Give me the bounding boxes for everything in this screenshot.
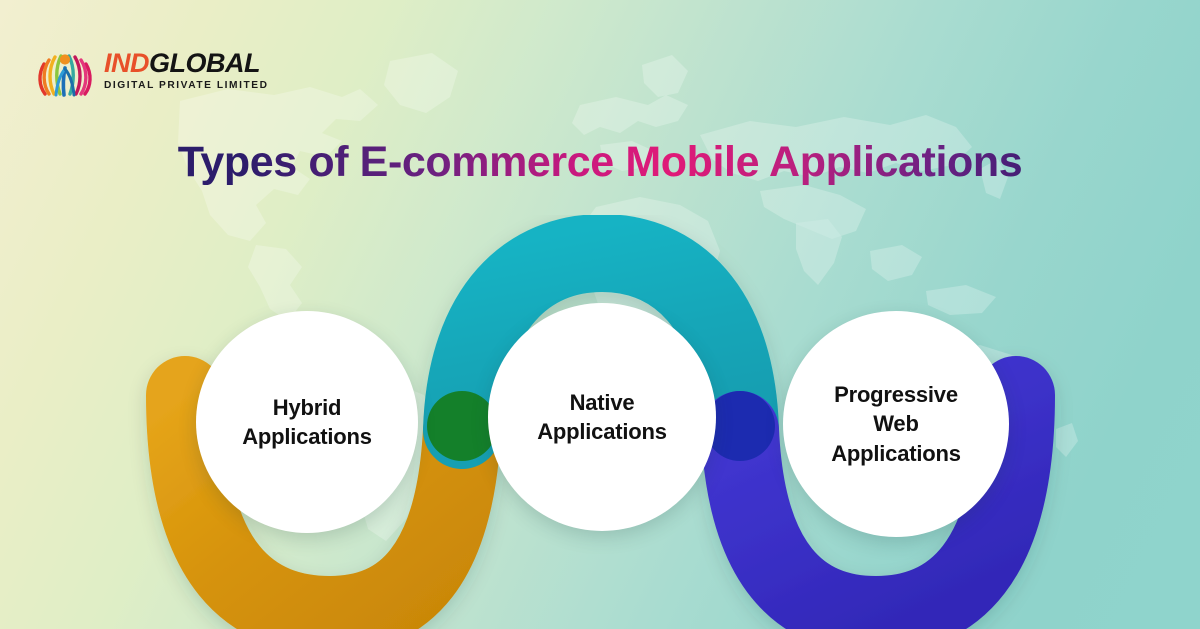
page-title: Types of E-commerce Mobile Applications	[0, 138, 1200, 187]
junction-dot-left	[427, 391, 497, 461]
node-hybrid-applications[interactable]: Hybrid Applications	[196, 311, 418, 533]
node-native-label: Native Applications	[523, 388, 681, 446]
node-progressive-web-applications[interactable]: Progressive Web Applications	[783, 311, 1009, 537]
brand-logo: INDGLOBAL DIGITAL PRIVATE LIMITED	[36, 44, 269, 98]
node-progressive-label: Progressive Web Applications	[817, 380, 975, 467]
brand-name-ind: IND	[104, 48, 149, 78]
node-native-applications[interactable]: Native Applications	[488, 303, 716, 531]
brand-tagline: DIGITAL PRIVATE LIMITED	[104, 81, 269, 91]
infographic-canvas: INDGLOBAL DIGITAL PRIVATE LIMITED Types …	[0, 0, 1200, 629]
node-hybrid-label: Hybrid Applications	[228, 393, 386, 451]
brand-name: INDGLOBAL	[104, 50, 269, 77]
brand-name-global: GLOBAL	[149, 48, 260, 78]
indglobal-logo-mark-icon	[36, 44, 94, 98]
